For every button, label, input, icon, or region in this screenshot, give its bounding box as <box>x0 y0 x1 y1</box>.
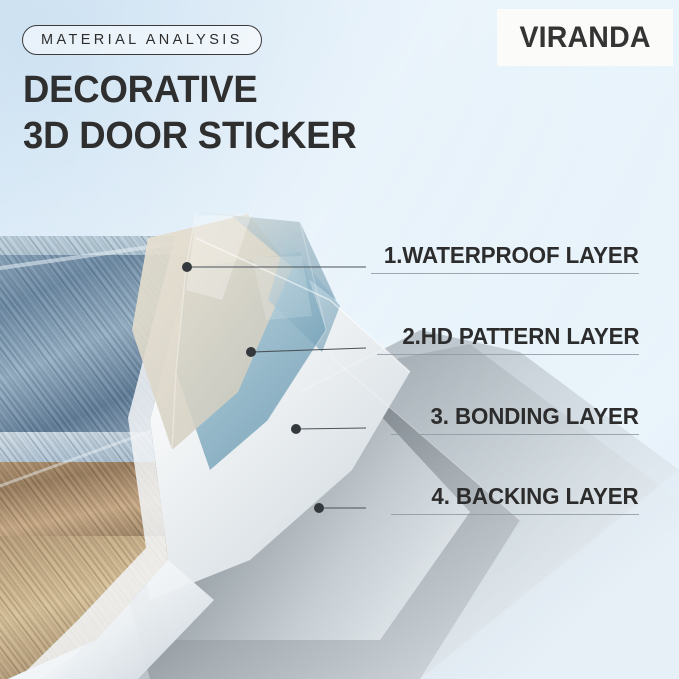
layer-callout-label-3: 3. BONDING LAYER <box>431 403 639 430</box>
layer-callout-rule-3 <box>391 434 639 435</box>
infographic-poster: MATERIAL ANALYSIS VIRANDA DECORATIVE 3D … <box>0 0 679 679</box>
layer-callout-4: 4. BACKING LAYER <box>391 483 639 515</box>
layer-callout-1: 1.WATERPROOF LAYER <box>371 242 639 274</box>
layer-callout-label-2: 2.HD PATTERN LAYER <box>402 323 639 350</box>
layer-callout-rule-1 <box>371 273 639 274</box>
layer-callout-3: 3. BONDING LAYER <box>391 403 639 435</box>
layer-callout-label-4: 4. BACKING LAYER <box>432 483 639 510</box>
layer-callouts: 1.WATERPROOF LAYER2.HD PATTERN LAYER3. B… <box>0 0 679 679</box>
layer-callout-2: 2.HD PATTERN LAYER <box>377 323 639 355</box>
layer-callout-rule-4 <box>391 514 639 515</box>
layer-callout-rule-2 <box>377 354 639 355</box>
layer-callout-label-1: 1.WATERPROOF LAYER <box>384 242 639 269</box>
